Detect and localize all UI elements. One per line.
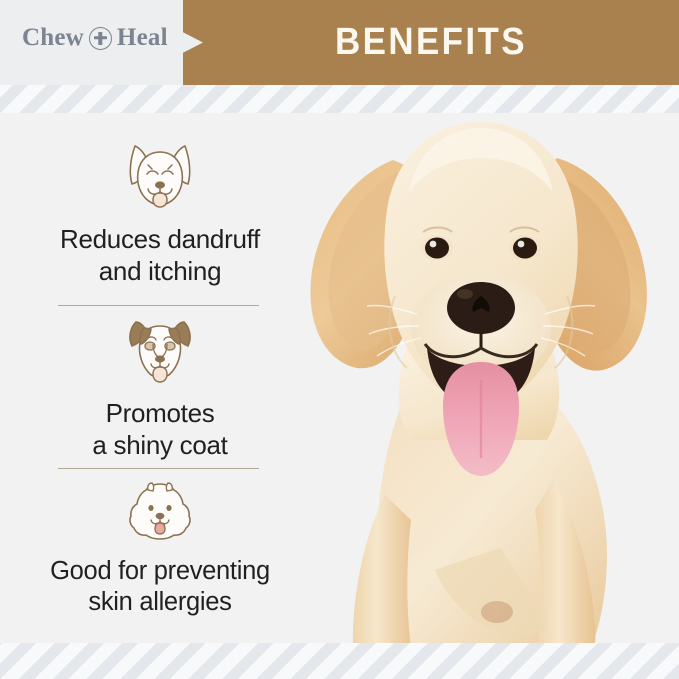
terrier-face-icon — [0, 310, 320, 384]
benefit-line1: Promotes — [106, 398, 215, 428]
benefit-item: Promotes a shiny coat — [0, 310, 320, 462]
benefit-divider — [58, 305, 259, 306]
benefit-line2: skin allergies — [88, 588, 231, 616]
page-title: BENEFITS — [203, 0, 659, 85]
benefit-line2: and itching — [99, 256, 221, 286]
plus-in-circle-icon — [89, 27, 112, 50]
benefit-text: Reduces dandruff and itching — [0, 224, 320, 288]
benefits-list: Reduces dandruff and itching — [0, 118, 320, 638]
benefit-line1: Reduces dandruff — [60, 224, 260, 254]
brand-logo: Chew Heal — [22, 24, 168, 52]
benefit-text: Promotes a shiny coat — [0, 398, 320, 462]
dog-photo — [285, 100, 679, 660]
benefit-line2: a shiny coat — [92, 430, 227, 460]
benefit-line1: Good for preventing — [50, 557, 270, 585]
benefit-divider — [58, 468, 259, 469]
samoyed-face-icon — [0, 480, 320, 542]
infographic-canvas: Reduces dandruff and itching — [0, 0, 679, 679]
benefit-item: Reduces dandruff and itching — [0, 136, 320, 288]
brand-name-right: Heal — [117, 24, 168, 52]
header-bar: Chew Heal BENEFITS — [0, 0, 679, 85]
benefit-text: Good for preventing skin allergies — [0, 556, 320, 619]
stripe-band-top — [0, 85, 679, 113]
benefit-item: Good for preventing skin allergies — [0, 480, 320, 619]
corgi-face-icon — [0, 136, 320, 210]
brand-name-left: Chew — [22, 24, 84, 52]
stripe-band-bottom — [0, 643, 679, 679]
